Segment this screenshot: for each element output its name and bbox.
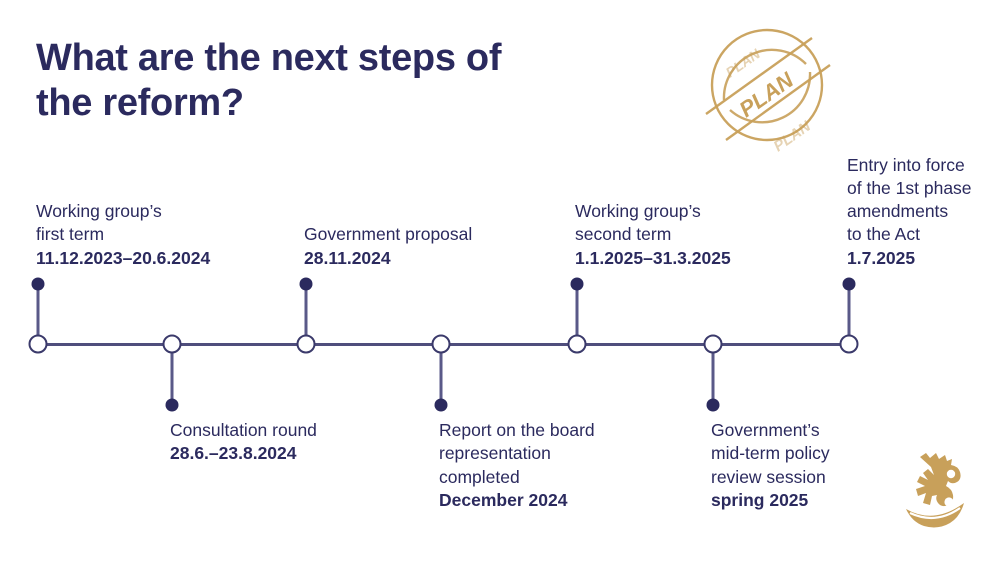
timeline-label-line: completed xyxy=(439,466,595,489)
timeline-label-government-proposal: Government proposal28.11.2024 xyxy=(304,223,472,270)
timeline-node-entry-into-force-first-phase[interactable] xyxy=(840,335,859,354)
timeline-label-line: 1.7.2025 xyxy=(847,247,972,270)
timeline-node-government-proposal[interactable] xyxy=(297,335,316,354)
timeline-label-line: Government’s xyxy=(711,419,830,442)
timeline-label-line: Report on the board xyxy=(439,419,595,442)
timeline-dot-working-group-second-term xyxy=(571,278,584,291)
timeline-dot-government-proposal xyxy=(300,278,313,291)
timeline-node-consultation-round[interactable] xyxy=(163,335,182,354)
timeline-label-line: 28.11.2024 xyxy=(304,247,472,270)
timeline-label-entry-into-force-first-phase: Entry into forceof the 1st phaseamendmen… xyxy=(847,154,972,270)
timeline-node-working-group-first-term[interactable] xyxy=(29,335,48,354)
timeline-label-line: 11.12.2023–20.6.2024 xyxy=(36,247,210,270)
timeline-label-line: review session xyxy=(711,466,830,489)
infographic-canvas: What are the next steps of the reform? P… xyxy=(0,0,1000,563)
timeline-label-line: amendments xyxy=(847,200,972,223)
timeline-label-line: Consultation round xyxy=(170,419,317,442)
timeline-node-working-group-second-term[interactable] xyxy=(568,335,587,354)
timeline-label-line: Government proposal xyxy=(304,223,472,246)
plan-stamp: PLAN PLAN PLAN xyxy=(700,18,834,152)
timeline-label-working-group-first-term: Working group’sfirst term11.12.2023–20.6… xyxy=(36,200,210,270)
timeline-dot-consultation-round xyxy=(166,399,179,412)
timeline-label-line: mid-term policy xyxy=(711,442,830,465)
timeline-label-line: first term xyxy=(36,223,210,246)
timeline-label-line: 28.6.–23.8.2024 xyxy=(170,442,317,465)
timeline-label-line: spring 2025 xyxy=(711,489,830,512)
timeline-label-line: to the Act xyxy=(847,223,972,246)
timeline-label-working-group-second-term: Working group’ssecond term1.1.2025–31.3.… xyxy=(575,200,731,270)
timeline-label-board-representation-report: Report on the boardrepresentationcomplet… xyxy=(439,419,595,512)
finnish-lion-emblem xyxy=(898,443,974,529)
timeline-label-line: second term xyxy=(575,223,731,246)
timeline-node-mid-term-policy-review[interactable] xyxy=(704,335,723,354)
plan-stamp-text-1: PLAN xyxy=(723,45,764,80)
timeline-dot-working-group-first-term xyxy=(32,278,45,291)
timeline-dot-mid-term-policy-review xyxy=(707,399,720,412)
timeline-label-line: Working group’s xyxy=(575,200,731,223)
timeline-label-mid-term-policy-review: Government’smid-term policyreview sessio… xyxy=(711,419,830,512)
timeline-label-line: of the 1st phase xyxy=(847,177,972,200)
page-title: What are the next steps of the reform? xyxy=(36,36,636,126)
timeline-label-consultation-round: Consultation round28.6.–23.8.2024 xyxy=(170,419,317,466)
timeline-label-line: Working group’s xyxy=(36,200,210,223)
timeline-dot-board-representation-report xyxy=(435,399,448,412)
timeline-label-line: representation xyxy=(439,442,595,465)
timeline-label-line: December 2024 xyxy=(439,489,595,512)
timeline-label-line: 1.1.2025–31.3.2025 xyxy=(575,247,731,270)
timeline-node-board-representation-report[interactable] xyxy=(432,335,451,354)
timeline-label-line: Entry into force xyxy=(847,154,972,177)
timeline-dot-entry-into-force-first-phase xyxy=(843,278,856,291)
